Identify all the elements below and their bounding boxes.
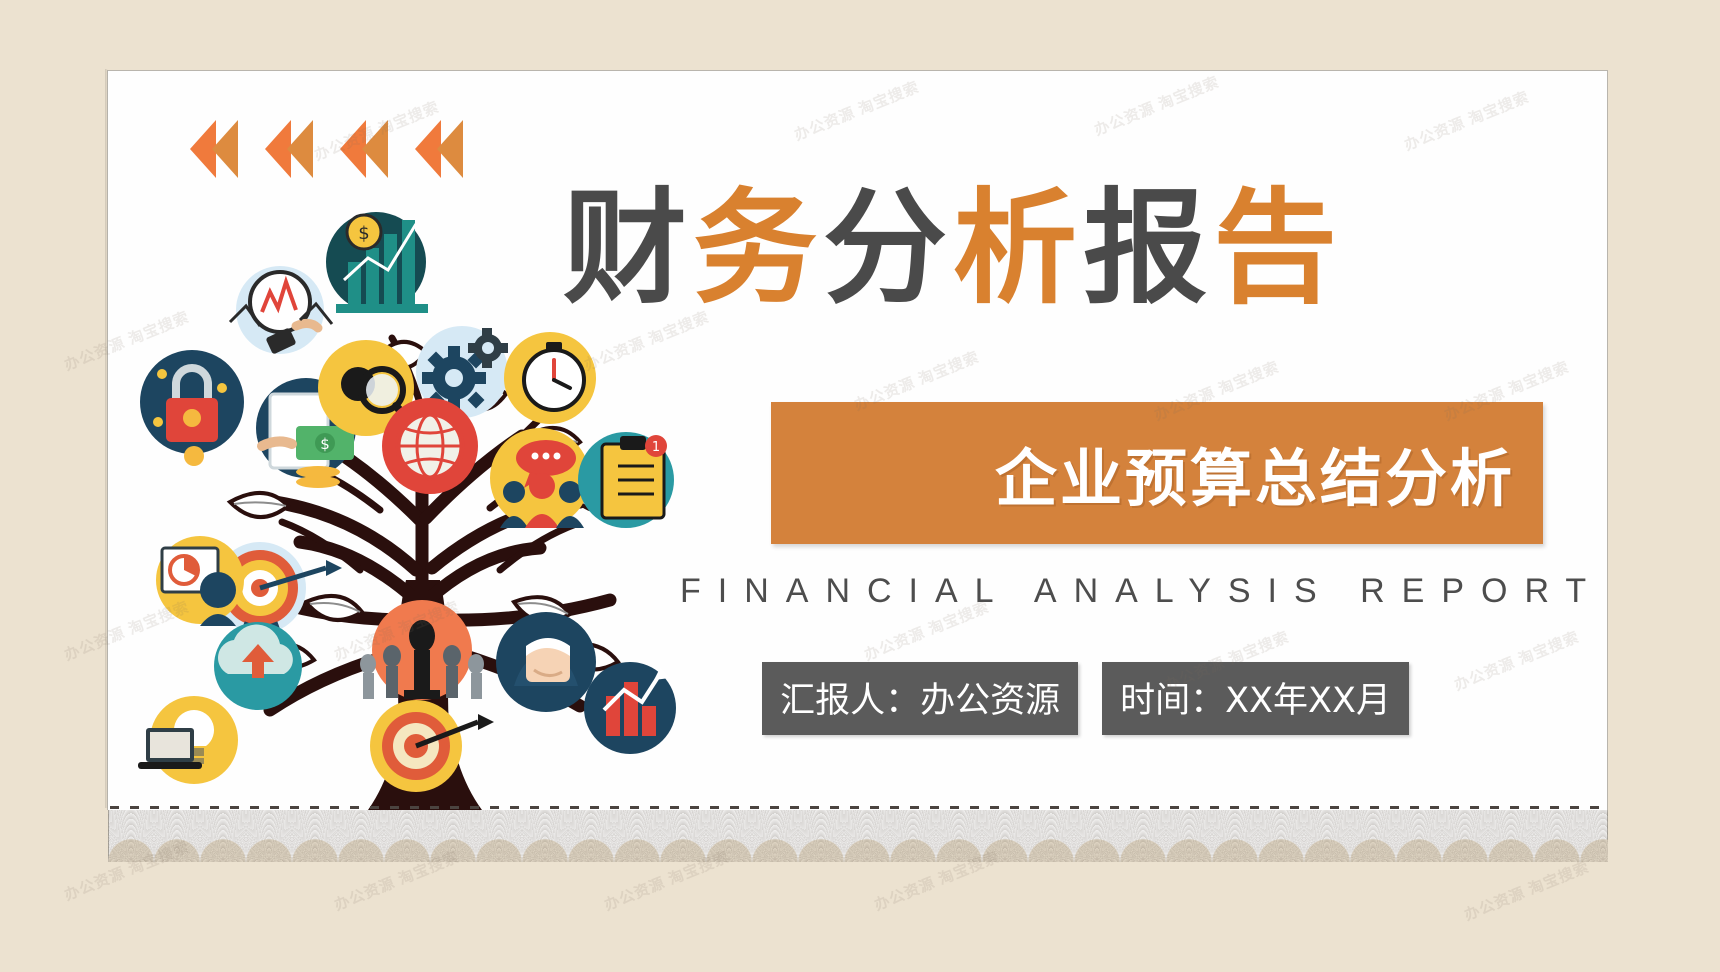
chevron-left-icon xyxy=(340,120,388,178)
perforation-dashed-line xyxy=(110,806,1606,809)
slide-canvas: $ $ xyxy=(0,0,1720,972)
title-char-1: 财 xyxy=(563,177,693,321)
title-char-4: 析 xyxy=(953,177,1083,321)
chevron-arrow-group xyxy=(190,120,463,178)
title-char-6: 告 xyxy=(1213,177,1343,321)
title-char-5: 报 xyxy=(1083,177,1213,321)
chevron-left-icon xyxy=(265,120,313,178)
chevron-left-icon xyxy=(415,120,463,178)
title-char-3: 分 xyxy=(823,177,953,321)
presenter-chip: 汇报人：办公资源 xyxy=(762,662,1078,735)
meta-chip-group: 汇报人：办公资源 时间：XX年XX月 xyxy=(700,662,1409,735)
date-chip: 时间：XX年XX月 xyxy=(1102,662,1409,735)
title-char-2: 务 xyxy=(693,177,823,321)
scalloped-bottom-edge xyxy=(108,810,1608,862)
english-subtitle: FINANCIAL ANALYSIS REPORT xyxy=(680,572,1410,611)
page-title: 财务分析报告 xyxy=(563,183,1343,317)
chevron-left-icon xyxy=(190,120,238,178)
subtitle-banner: 企业预算总结分析 xyxy=(771,402,1543,544)
banner-text: 企业预算总结分析 xyxy=(995,428,1515,518)
watermark: 办公资源 淘宝搜索 xyxy=(1461,856,1592,925)
